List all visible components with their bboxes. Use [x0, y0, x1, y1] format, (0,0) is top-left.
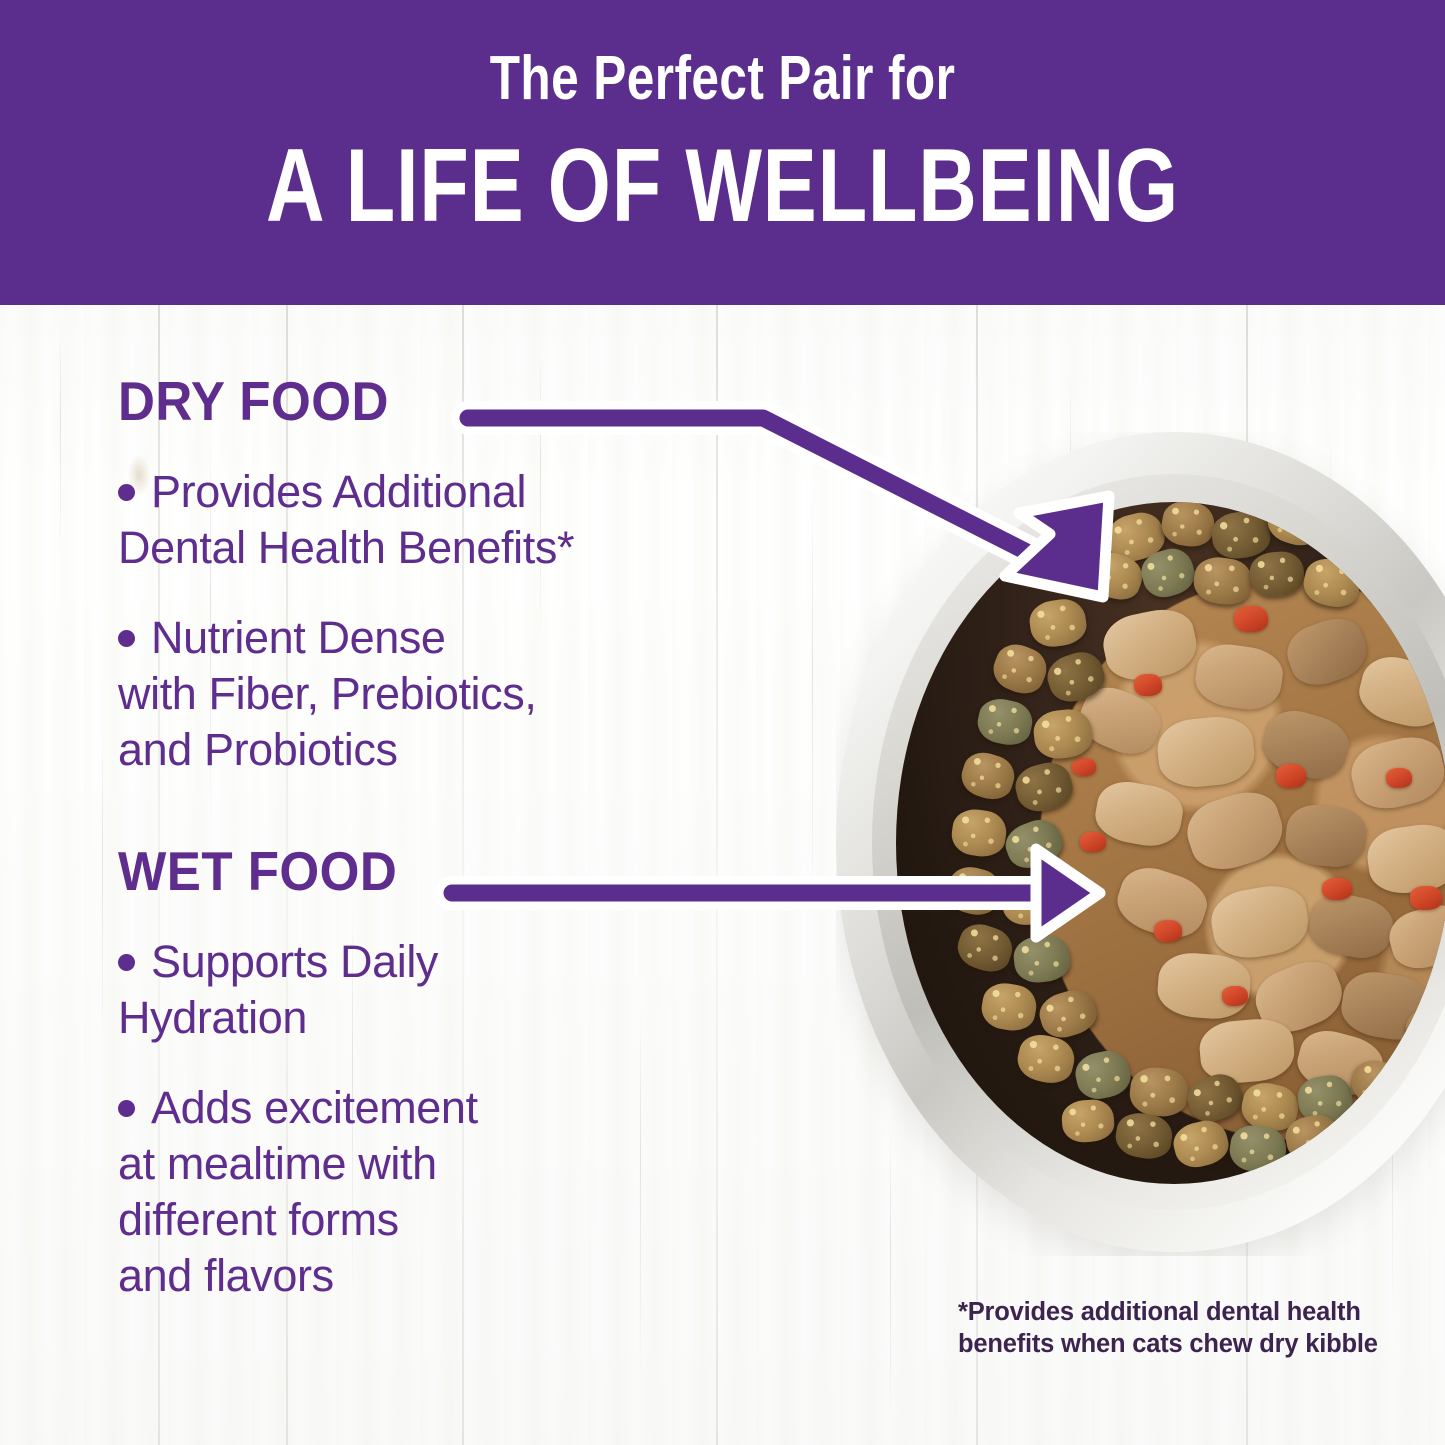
- bullet-dot-icon: [118, 954, 135, 971]
- list-item: Adds excitement at mealtime with differe…: [118, 1080, 778, 1304]
- header-banner: The Perfect Pair for A LIFE OF WELLBEING: [0, 0, 1445, 305]
- dry-kibble: [1370, 502, 1428, 551]
- bullet-dot-icon: [118, 1100, 135, 1117]
- bullet-text: Adds excitement at mealtime with differe…: [118, 1082, 478, 1301]
- dry-kibble: [978, 980, 1039, 1035]
- list-item: Nutrient Dense with Fiber, Prebiotics, a…: [118, 610, 778, 778]
- benefits-copy: DRY FOOD Provides Additional Dental Heal…: [118, 372, 778, 1304]
- section-heading-dry-food: DRY FOOD: [118, 372, 732, 430]
- tomato-piece: [1222, 986, 1248, 1006]
- dry-food-bullet-list: Provides Additional Dental Health Benefi…: [118, 464, 778, 778]
- footnote-text: *Provides additional dental health benef…: [958, 1296, 1428, 1360]
- wood-grain: [102, 725, 103, 1055]
- bullet-dot-icon: [118, 484, 135, 501]
- section-spacer: [118, 778, 778, 842]
- food-contents: [896, 502, 1445, 1184]
- tomato-piece: [1386, 768, 1412, 788]
- tomato-piece: [1234, 606, 1268, 632]
- header-eyebrow: The Perfect Pair for: [145, 44, 1301, 114]
- tomato-piece: [1410, 886, 1442, 910]
- dry-kibble: [1061, 1098, 1116, 1144]
- dry-kibble: [956, 747, 1019, 805]
- section-heading-wet-food: WET FOOD: [118, 842, 732, 900]
- wood-grain: [812, 485, 813, 935]
- wet-food-bullet-list: Supports Daily Hydration Adds excitement…: [118, 934, 778, 1304]
- dry-kibble: [1113, 1109, 1176, 1162]
- tomato-piece: [1154, 920, 1182, 942]
- dry-kibble: [987, 638, 1052, 700]
- bowl-rim: [836, 432, 1445, 1252]
- promo-graphic: The Perfect Pair for A LIFE OF WELLBEING: [0, 0, 1445, 1445]
- tomato-piece: [1322, 878, 1352, 900]
- tomato-piece: [1080, 832, 1106, 852]
- list-item: Supports Daily Hydration: [118, 934, 778, 1046]
- dry-kibble: [974, 695, 1036, 749]
- bullet-text: Nutrient Dense with Fiber, Prebiotics, a…: [118, 612, 536, 775]
- list-item: Provides Additional Dental Health Benefi…: [118, 464, 778, 576]
- bullet-text: Supports Daily Hydration: [118, 936, 438, 1043]
- dry-kibble: [952, 918, 1018, 978]
- dry-kibble: [1263, 502, 1328, 551]
- dry-kibble: [1159, 502, 1218, 550]
- dry-kibble: [1316, 508, 1379, 565]
- tomato-piece: [1134, 674, 1162, 696]
- bullet-text: Provides Additional Dental Health Benefi…: [118, 466, 574, 573]
- bullet-dot-icon: [118, 630, 135, 647]
- food-bowl-photo: [836, 432, 1445, 1256]
- header-title: A LIFE OF WELLBEING: [159, 130, 1286, 242]
- wood-grain: [60, 325, 61, 565]
- bowl-interior: [896, 502, 1445, 1184]
- dry-kibble: [949, 806, 1009, 859]
- tomato-piece: [1276, 764, 1306, 788]
- dry-kibble: [1027, 596, 1089, 649]
- dry-kibble: [943, 862, 1005, 919]
- tomato-piece: [1072, 758, 1096, 776]
- dry-kibble: [1013, 1030, 1078, 1088]
